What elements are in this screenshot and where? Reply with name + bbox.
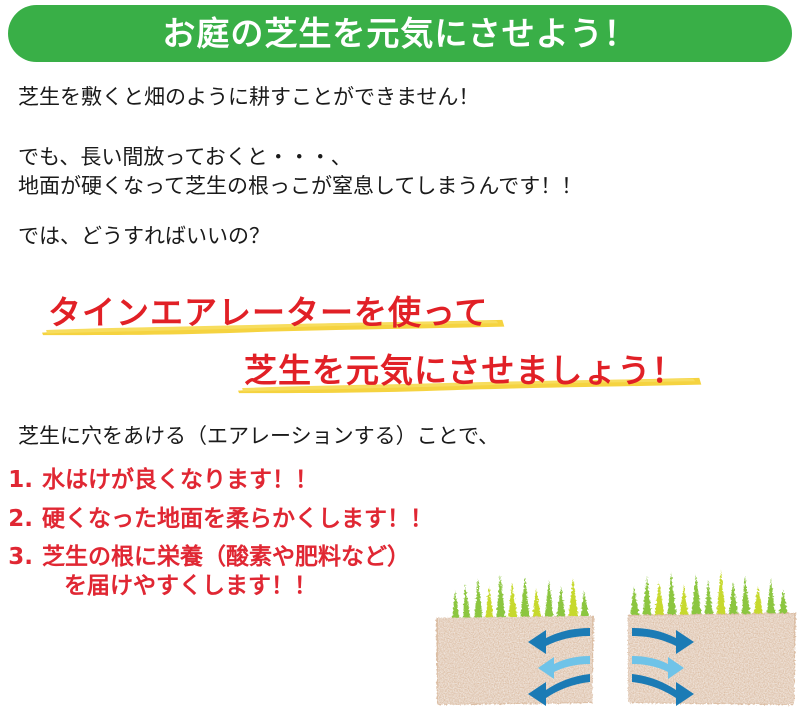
- question-paragraph: では、どうすればいいの？: [18, 222, 270, 252]
- benefits-lead-in: 芝生に穴をあける（エアレーションする）ことで、: [18, 422, 499, 452]
- problem-line-1: でも、長い間放っておくと・・・、: [18, 143, 352, 173]
- highlight-text-2: 芝生を元気にさせましょう！: [244, 351, 685, 390]
- grass-left-icon: [452, 574, 590, 622]
- intro-paragraph: 芝生を敷くと畑のように耕すことができません！: [18, 83, 479, 113]
- list-item-number: 1.: [0, 466, 33, 495]
- problem-line-2: 地面が硬くなって芝生の根っこが窒息してしまうんです！！: [18, 172, 582, 202]
- list-item: 1. 水はけが良くなります！！: [0, 466, 520, 495]
- page-title: お庭の芝生を元気にさせよう！: [162, 17, 637, 50]
- list-item: 2. 硬くなった地面を柔らかくします！！: [0, 505, 520, 534]
- list-item-label: 芝生の根に栄養（酸素や肥料など）: [42, 544, 410, 570]
- header-banner: お庭の芝生を元気にさせよう！: [8, 5, 792, 62]
- soil-texture: [432, 611, 800, 711]
- list-item-label-continuation: を届けやすくします！！: [42, 572, 410, 601]
- lawn-aeration-illustration: [432, 556, 800, 720]
- list-item-number: 2.: [0, 505, 33, 534]
- list-item-label: 硬くなった地面を柔らかくします！！: [42, 506, 433, 532]
- highlight-line-2: 芝生を元気にさせましょう！: [244, 344, 685, 392]
- highlight-text-1: タインエアレーターを使って: [48, 293, 488, 332]
- grass-right-icon: [630, 570, 789, 620]
- list-item-label: 水はけが良くなります！！: [42, 467, 318, 493]
- list-item-number: 3.: [0, 543, 33, 572]
- highlight-line-1: タインエアレーターを使って: [48, 286, 488, 334]
- poster-page: お庭の芝生を元気にさせよう！ 芝生を敷くと畑のように耕すことができません！ でも…: [0, 0, 800, 720]
